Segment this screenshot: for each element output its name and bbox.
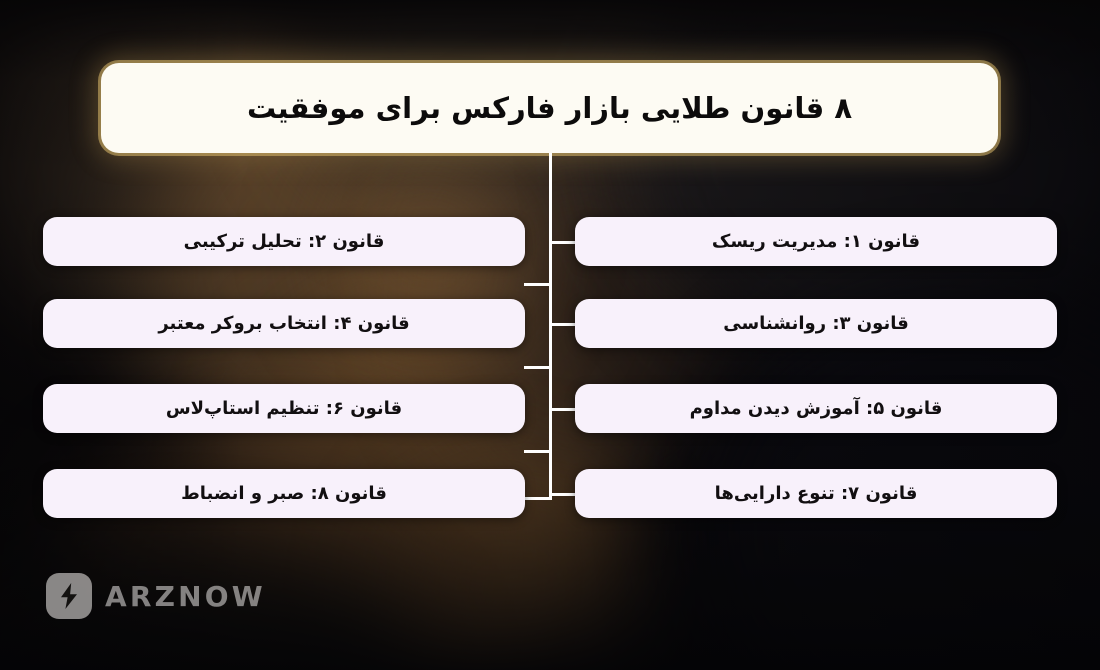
page-title: ۸ قانون طلایی بازار فارکس برای موفقیت <box>247 91 852 125</box>
rule-label: قانون ۲: تحلیل ترکیبی <box>184 231 385 252</box>
brand-name: ARZNOW <box>105 580 266 613</box>
rule-card-4[interactable]: قانون ۴: انتخاب بروکر معتبر <box>43 299 525 348</box>
connector-stub-rule-7 <box>549 493 576 496</box>
rule-label: قانون ۴: انتخاب بروکر معتبر <box>158 313 409 334</box>
rule-card-1[interactable]: قانون ۱: مدیریت ریسک <box>575 217 1057 266</box>
brand-watermark: ARZNOW <box>46 573 266 619</box>
rule-label: قانون ۸: صبر و انضباط <box>181 483 387 504</box>
rule-label: قانون ۱: مدیریت ریسک <box>712 231 920 252</box>
rule-card-8[interactable]: قانون ۸: صبر و انضباط <box>43 469 525 518</box>
connector-stub-rule-8 <box>524 497 551 500</box>
connector-trunk <box>549 153 552 500</box>
connector-stub-rule-4 <box>524 366 551 369</box>
connector-stub-rule-2 <box>524 283 551 286</box>
rule-card-2[interactable]: قانون ۲: تحلیل ترکیبی <box>43 217 525 266</box>
rule-label: قانون ۵: آموزش دیدن مداوم <box>690 398 943 419</box>
title-card: ۸ قانون طلایی بازار فارکس برای موفقیت <box>101 63 998 153</box>
lightning-bolt-icon <box>46 573 92 619</box>
connector-stub-rule-3 <box>549 323 576 326</box>
connector-stub-rule-6 <box>524 450 551 453</box>
connector-stub-rule-5 <box>549 408 576 411</box>
rule-card-5[interactable]: قانون ۵: آموزش دیدن مداوم <box>575 384 1057 433</box>
rule-label: قانون ۶: تنظیم استاپ‌لاس <box>166 398 402 419</box>
infographic-stage: ۸ قانون طلایی بازار فارکس برای موفقیت قا… <box>0 0 1100 670</box>
rule-label: قانون ۷: تنوع دارایی‌ها <box>715 483 918 504</box>
connector-stub-rule-1 <box>549 241 576 244</box>
rule-card-3[interactable]: قانون ۳: روانشناسی <box>575 299 1057 348</box>
rule-card-6[interactable]: قانون ۶: تنظیم استاپ‌لاس <box>43 384 525 433</box>
rule-label: قانون ۳: روانشناسی <box>723 313 909 334</box>
rule-card-7[interactable]: قانون ۷: تنوع دارایی‌ها <box>575 469 1057 518</box>
